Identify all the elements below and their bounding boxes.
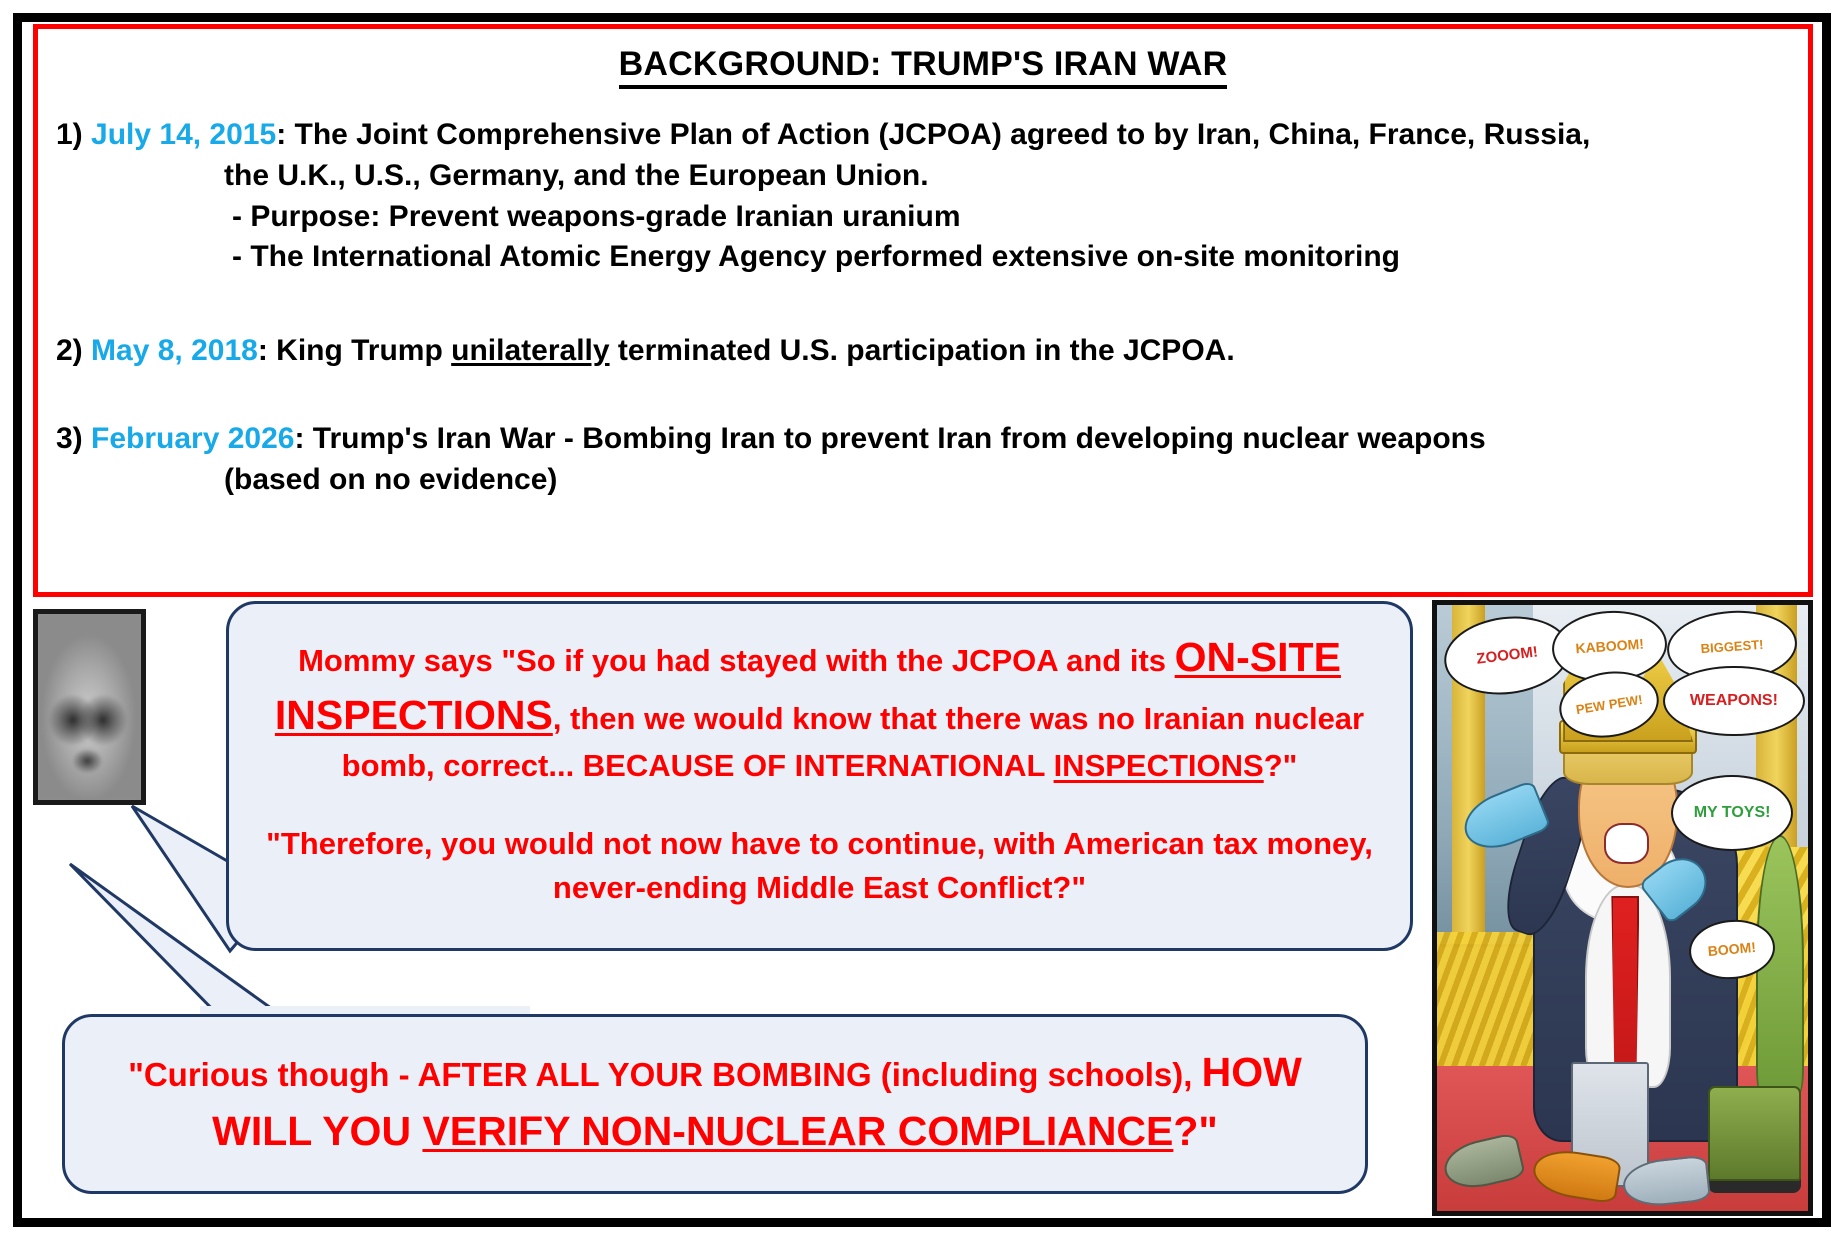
slide-canvas: BACKGROUND: TRUMP'S IRAN WAR 1) July 14,… [0,0,1844,1240]
item-3-number: 3) [56,422,83,455]
item-2-number: 2) [56,334,83,367]
child-photo [33,609,146,805]
bubble-one-emphasis-inspections: INSPECTIONS [1054,748,1264,783]
page-title: BACKGROUND: TRUMP'S IRAN WAR [38,45,1808,84]
background-item-2: 2) May 8, 2018: King Trump unilaterally … [56,331,1786,372]
item-2-date: May 8, 2018 [91,334,258,367]
bubble-two-emphasis-verify: VERIFY NON-NUCLEAR COMPLIANCE [422,1108,1173,1154]
item-2-lead-b: terminated U.S. participation in the JCP… [610,334,1235,367]
item-2-lead-a: : King Trump [258,334,451,367]
item-1-line-1: the U.K., U.S., Germany, and the Europea… [224,156,1786,197]
item-3-lead: : Trump's Iran War - Bombing Iran to pre… [294,422,1485,455]
cartoon-callout-mytoys-icon: MY TOYS! [1671,775,1794,852]
item-1-date: July 14, 2015 [91,118,276,151]
bubble-one-text-a: Mommy says "So if you had stayed with th… [298,643,1175,678]
item-1-line-3: - The International Atomic Energy Agency… [232,237,1786,278]
item-1-line-2: - Purpose: Prevent weapons-grade Iranian… [232,197,1786,238]
background-item-1: 1) July 14, 2015: The Joint Comprehensiv… [56,115,1786,278]
bubble-one-text-c: ?" [1264,748,1298,783]
trump-cartoon-image: ZOOOM! KABOOM! PEW PEW! BIGGEST! WEAPONS… [1432,600,1813,1216]
background-item-3: 3) February 2026: Trump's Iran War - Bom… [56,419,1786,501]
page-title-text: BACKGROUND: TRUMP'S IRAN WAR [619,45,1228,89]
bubble-two-text-a: "Curious though - AFTER ALL YOUR BOMBING… [128,1056,1201,1093]
cartoon-trump-mouth [1604,823,1649,863]
item-1-lead: : The Joint Comprehensive Plan of Action… [276,118,1590,151]
bubble-one-paragraph-two: "Therefore, you would not now have to co… [255,822,1384,910]
item-2-underlined: unilaterally [451,334,609,367]
item-3-date: February 2026 [91,422,294,455]
bubble-one-paragraph-one: Mommy says "So if you had stayed with th… [255,628,1384,788]
cartoon-callout-weapons-icon: WEAPONS! [1663,666,1804,737]
background-red-box: BACKGROUND: TRUMP'S IRAN WAR 1) July 14,… [33,24,1813,597]
child-face [38,614,141,800]
cartoon-scene: ZOOOM! KABOOM! PEW PEW! BIGGEST! WEAPONS… [1437,605,1808,1211]
bubble-two-big-b: ?" [1173,1108,1217,1154]
item-3-line-1: (based on no evidence) [224,460,1786,501]
item-1-number: 1) [56,118,83,151]
speech-bubble-two: "Curious though - AFTER ALL YOUR BOMBING… [62,1014,1368,1194]
speech-bubble-one: Mommy says "So if you had stayed with th… [226,601,1413,951]
cartoon-toy-tank [1708,1086,1801,1181]
